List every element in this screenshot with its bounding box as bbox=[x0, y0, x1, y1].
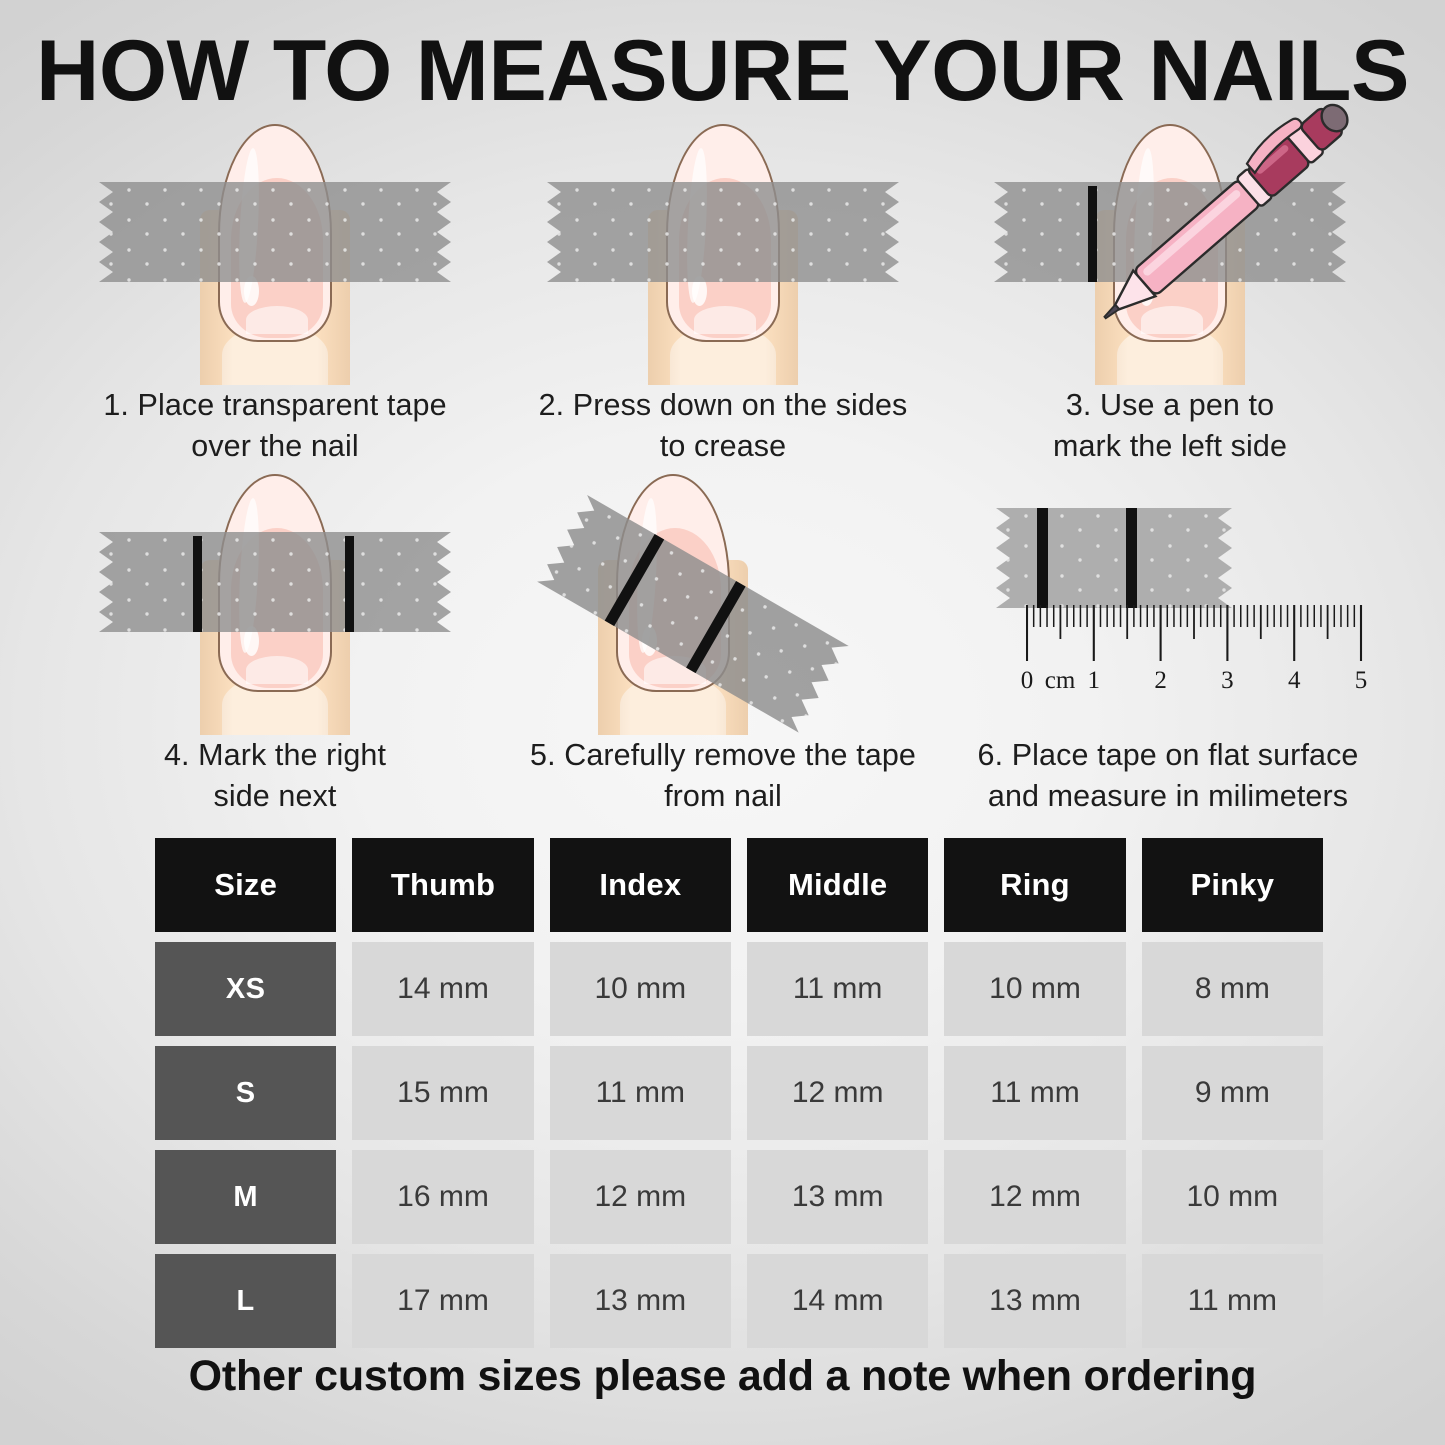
step-1-illustration bbox=[65, 120, 485, 385]
ruler-label-5: 5 bbox=[1355, 667, 1368, 695]
ruler-label-0: 0 bbox=[1021, 667, 1034, 695]
cell-m-ring: 12 mm bbox=[944, 1150, 1125, 1244]
cell-l-thumb: 17 mm bbox=[352, 1254, 533, 1348]
cell-m-pinky: 10 mm bbox=[1142, 1150, 1323, 1244]
footer-note: Other custom sizes please add a note whe… bbox=[0, 1352, 1445, 1401]
size-label-xs: XS bbox=[155, 942, 336, 1036]
step-3-caption-line1: 3. Use a pen to bbox=[960, 385, 1380, 426]
step-4-caption-line1: 4. Mark the right bbox=[65, 735, 485, 776]
right-edge-mark bbox=[345, 536, 354, 632]
step-6-caption: 6. Place tape on flat surface and measur… bbox=[938, 735, 1398, 817]
step-4-caption: 4. Mark the right side next bbox=[65, 735, 485, 817]
left-edge-mark bbox=[193, 536, 202, 632]
size-label-l: L bbox=[155, 1254, 336, 1348]
step-4: 4. Mark the right side next bbox=[65, 470, 485, 817]
table-header-size: Size bbox=[155, 838, 336, 932]
step-5-caption-line1: 5. Carefully remove the tape bbox=[513, 735, 933, 776]
cell-l-ring: 13 mm bbox=[944, 1254, 1125, 1348]
cell-l-middle: 14 mm bbox=[747, 1254, 928, 1348]
ruler-label-4: 4 bbox=[1288, 667, 1301, 695]
tape-strip-flat bbox=[982, 508, 1242, 608]
step-2-caption: 2. Press down on the sides to crease bbox=[513, 385, 933, 467]
step-5-caption-line2: from nail bbox=[513, 776, 933, 817]
step-3-illustration bbox=[960, 120, 1380, 385]
cell-s-middle: 12 mm bbox=[747, 1046, 928, 1140]
cell-m-middle: 13 mm bbox=[747, 1150, 928, 1244]
ruler-label-1: 1 bbox=[1088, 667, 1101, 695]
cell-l-pinky: 11 mm bbox=[1142, 1254, 1323, 1348]
pen-icon bbox=[1078, 102, 1378, 322]
ruler-unit-label: cm bbox=[1045, 667, 1076, 695]
cell-s-index: 11 mm bbox=[550, 1046, 731, 1140]
size-label-m: M bbox=[155, 1150, 336, 1244]
tape-strip bbox=[85, 532, 465, 632]
cell-s-ring: 11 mm bbox=[944, 1046, 1125, 1140]
step-2-illustration bbox=[513, 120, 933, 385]
step-6-caption-line1: 6. Place tape on flat surface bbox=[938, 735, 1398, 776]
cell-xs-index: 10 mm bbox=[550, 942, 731, 1036]
step-5-illustration bbox=[513, 470, 933, 735]
cell-xs-middle: 11 mm bbox=[747, 942, 928, 1036]
step-1: 1. Place transparent tape over the nail bbox=[65, 120, 485, 467]
ruler-ticks bbox=[1026, 605, 1366, 665]
table-header-thumb: Thumb bbox=[352, 838, 533, 932]
step-6-caption-line2: and measure in milimeters bbox=[938, 776, 1398, 817]
step-6-illustration: 0 cm 1 2 3 4 5 bbox=[960, 470, 1380, 735]
step-3: 3. Use a pen to mark the left side bbox=[960, 120, 1380, 467]
nail-lunula bbox=[246, 656, 308, 684]
table-header-pinky: Pinky bbox=[1142, 838, 1323, 932]
step-5: 5. Carefully remove the tape from nail bbox=[513, 470, 933, 817]
step-4-caption-line2: side next bbox=[65, 776, 485, 817]
step-2: 2. Press down on the sides to crease bbox=[513, 120, 933, 467]
cell-s-pinky: 9 mm bbox=[1142, 1046, 1323, 1140]
step-5-caption: 5. Carefully remove the tape from nail bbox=[513, 735, 933, 817]
step-3-caption-line2: mark the left side bbox=[960, 426, 1380, 467]
cell-s-thumb: 15 mm bbox=[352, 1046, 533, 1140]
size-label-s: S bbox=[155, 1046, 336, 1140]
table-header-ring: Ring bbox=[944, 838, 1125, 932]
cell-l-index: 13 mm bbox=[550, 1254, 731, 1348]
ruler-label-3: 3 bbox=[1221, 667, 1234, 695]
table-header-index: Index bbox=[550, 838, 731, 932]
cell-m-index: 12 mm bbox=[550, 1150, 731, 1244]
tape-strip bbox=[85, 182, 465, 282]
ruler-label-2: 2 bbox=[1154, 667, 1167, 695]
cell-xs-thumb: 14 mm bbox=[352, 942, 533, 1036]
step-6: 0 cm 1 2 3 4 5 6. Place tape on flat sur… bbox=[960, 470, 1380, 817]
infographic-page: HOW TO MEASURE YOUR NAILS bbox=[0, 0, 1445, 1445]
step-4-illustration bbox=[65, 470, 485, 735]
step-1-caption-line1: 1. Place transparent tape bbox=[65, 385, 485, 426]
nail-lunula bbox=[246, 306, 308, 334]
step-2-caption-line1: 2. Press down on the sides bbox=[513, 385, 933, 426]
size-chart-table: SizeThumbIndexMiddleRingPinkyXS14 mm10 m… bbox=[155, 838, 1323, 1348]
step-1-caption-line2: over the nail bbox=[65, 426, 485, 467]
cell-xs-pinky: 8 mm bbox=[1142, 942, 1323, 1036]
ruler: 0 cm 1 2 3 4 5 bbox=[1026, 605, 1366, 670]
step-1-caption: 1. Place transparent tape over the nail bbox=[65, 385, 485, 467]
tape-strip bbox=[533, 182, 913, 282]
nail-lunula bbox=[694, 306, 756, 334]
step-3-caption: 3. Use a pen to mark the left side bbox=[960, 385, 1380, 467]
cell-m-thumb: 16 mm bbox=[352, 1150, 533, 1244]
step-2-caption-line2: to crease bbox=[513, 426, 933, 467]
table-header-middle: Middle bbox=[747, 838, 928, 932]
cell-xs-ring: 10 mm bbox=[944, 942, 1125, 1036]
